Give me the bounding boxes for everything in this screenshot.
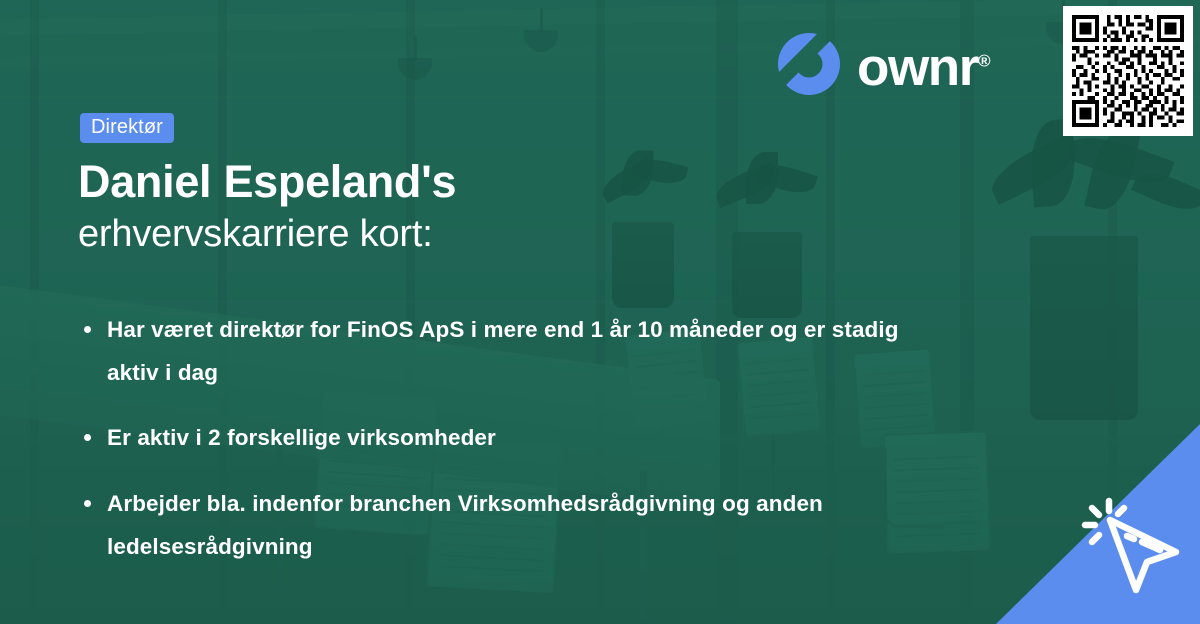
career-facts-list: Har været direktør for FinOS ApS i mere … [80, 308, 920, 568]
page-title-subtitle: erhvervskarriere kort: [78, 210, 938, 259]
business-card: Direktør Daniel Espeland's erhvervskarri… [0, 0, 1200, 624]
list-item: Er aktiv i 2 forskellige virksomheder [80, 416, 920, 459]
bullet-dot-icon [84, 326, 91, 333]
page-title-name: Daniel Espeland's [78, 155, 938, 210]
list-item-text: Arbejder bla. indenfor branchen Virksomh… [107, 491, 823, 559]
ownr-wordmark: ownr® [857, 41, 991, 94]
bullet-dot-icon [84, 500, 91, 507]
page-title: Daniel Espeland's erhvervskarriere kort: [78, 155, 938, 259]
list-item: Har været direktør for FinOS ApS i mere … [80, 308, 920, 394]
ownr-wordmark-text: ownr [857, 38, 978, 97]
registered-trademark-icon: ® [978, 51, 991, 70]
ownr-logo[interactable]: ownr® [778, 33, 991, 100]
list-item: Arbejder bla. indenfor branchen Virksomh… [80, 482, 920, 568]
qr-code-icon[interactable] [1063, 6, 1193, 136]
list-item-text: Er aktiv i 2 forskellige virksomheder [107, 425, 496, 450]
click-cursor-icon [1072, 486, 1192, 606]
role-badge: Direktør [80, 113, 174, 143]
bullet-dot-icon [84, 434, 91, 441]
ownr-circle-swoosh-icon [778, 33, 840, 100]
list-item-text: Har været direktør for FinOS ApS i mere … [107, 317, 899, 385]
